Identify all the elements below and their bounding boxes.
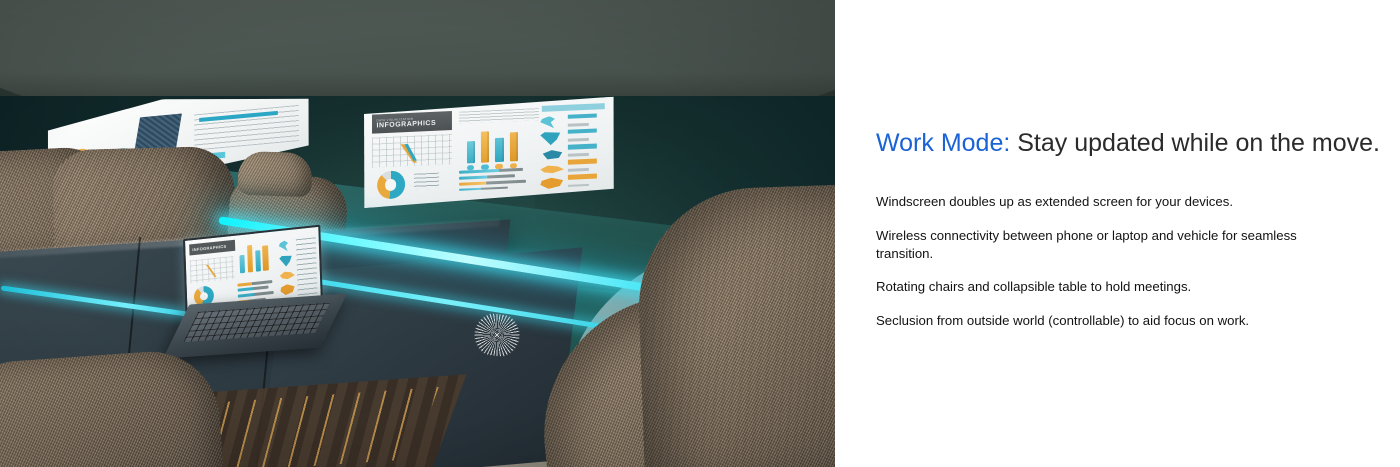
headline-lead: Work Mode: (876, 129, 1010, 157)
hbar (459, 180, 526, 186)
continent-row (568, 128, 607, 143)
bar (240, 255, 246, 273)
continent-shape-australia (540, 149, 564, 161)
laptop-screen-title: INFOGRAPHICS (189, 240, 235, 256)
seat-foreground-left (0, 347, 225, 467)
list-item: Seclusion from outside world (controllab… (876, 312, 1356, 330)
continent-label-rows (296, 237, 318, 297)
bar (255, 250, 261, 271)
windscreen-infographics-panel: DATA VISUALIZATION INFOGRAPHICS (364, 97, 614, 208)
continent-shape (280, 270, 295, 281)
laptop-continent-section (278, 232, 318, 304)
bar (467, 141, 475, 163)
infographics-donut-chart (377, 170, 405, 199)
headline-rest: Stay updated while on the move. (1010, 129, 1380, 157)
hbar (238, 291, 274, 298)
laptop-bar-chart (239, 241, 272, 273)
doc-text-lines (194, 105, 298, 151)
list-item: Wireless connectivity between phone or l… (876, 227, 1356, 263)
slide-root: DATA VISUALIZATION INFOGRAPHICS (0, 0, 1400, 467)
bar (495, 138, 503, 162)
continent-section-title (542, 103, 605, 112)
hbar (459, 174, 515, 179)
continent-shape-asia (540, 177, 564, 190)
bar (262, 245, 268, 271)
laptop-keyboard (183, 303, 330, 342)
continent-shape (279, 240, 294, 253)
continent-row (568, 158, 607, 173)
laptop-line-chart (190, 256, 235, 283)
infographics-continent-section (539, 103, 609, 194)
infographics-header: DATA VISUALIZATION INFOGRAPHICS (372, 111, 452, 134)
hbar (459, 168, 523, 174)
continent-shape-america (540, 115, 564, 128)
continent-shape-europe (540, 164, 564, 175)
bar (247, 245, 253, 273)
infographics-line-chart (372, 134, 452, 168)
seat-headrest (237, 151, 312, 198)
infographics-intro-text (459, 108, 539, 124)
continent-row (568, 173, 607, 188)
continent-shape (280, 283, 295, 296)
headline: Work Mode: Stay updated while on the mov… (876, 128, 1376, 159)
feature-list: Windscreen doubles up as extended screen… (876, 193, 1356, 330)
continent-label-rows (568, 113, 607, 191)
cabin-interior-photo: DATA VISUALIZATION INFOGRAPHICS (0, 0, 835, 467)
infographics-horizontal-bar-chart (459, 167, 529, 194)
continent-shape (279, 255, 294, 268)
text-panel: Work Mode: Stay updated while on the mov… (835, 0, 1400, 467)
continent-row (568, 113, 607, 128)
bar (481, 131, 489, 163)
infographics-bar-chart (464, 127, 529, 164)
list-item: Windscreen doubles up as extended screen… (876, 193, 1356, 211)
hbar (459, 186, 508, 191)
continent-shape-africa (540, 131, 564, 145)
continent-row (568, 143, 607, 158)
bar (509, 132, 517, 162)
list-item: Rotating chairs and collapsible table to… (876, 278, 1356, 296)
infographics-donut-legend (414, 173, 439, 190)
